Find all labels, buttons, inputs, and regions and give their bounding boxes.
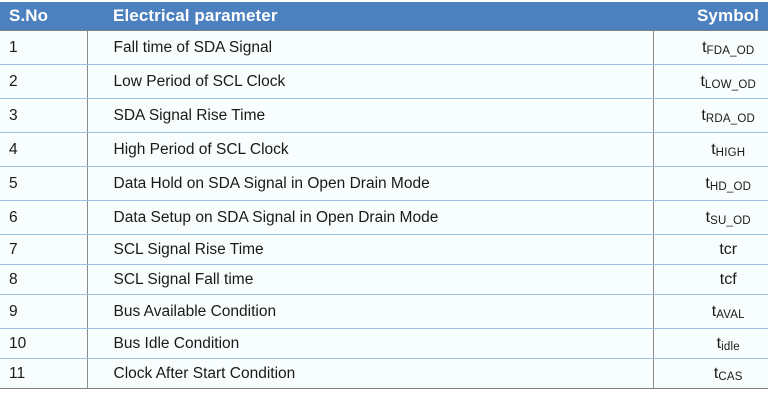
cell-symbol: tidle <box>653 329 768 359</box>
electrical-parameter-table: S.No Electrical parameter Symbol 1Fall t… <box>0 2 768 389</box>
cell-symbol: tCAS <box>653 359 768 389</box>
table-body: 1Fall time of SDA SignaltFDA_OD2Low Peri… <box>0 31 768 389</box>
symbol-text: tCAS <box>714 365 743 382</box>
symbol-text: tSU_OD <box>706 209 751 226</box>
symbol-subscript: HD_OD <box>710 181 751 193</box>
table-row: 7SCL Signal Rise Timetcr <box>0 235 768 265</box>
table-row: 9Bus Available ConditiontAVAL <box>0 295 768 329</box>
cell-sno: 8 <box>0 265 87 295</box>
symbol-text: tcr <box>719 241 737 258</box>
table-row: 4High Period of SCL ClocktHIGH <box>0 133 768 167</box>
cell-sno: 4 <box>0 133 87 167</box>
table-row: 1Fall time of SDA SignaltFDA_OD <box>0 31 768 65</box>
table-row: 3SDA Signal Rise TimetRDA_OD <box>0 99 768 133</box>
cell-parameter: Bus Available Condition <box>87 295 653 329</box>
cell-sno: 7 <box>0 235 87 265</box>
symbol-subscript: LOW_OD <box>705 79 756 91</box>
cell-parameter: Low Period of SCL Clock <box>87 65 653 99</box>
symbol-base: t <box>711 141 715 158</box>
symbol-subscript: RDA_OD <box>706 113 755 125</box>
symbol-subscript: FDA_OD <box>707 45 755 57</box>
cell-symbol: tcr <box>653 235 768 265</box>
cell-sno: 6 <box>0 201 87 235</box>
symbol-text: tHIGH <box>711 141 745 158</box>
cell-symbol: tcf <box>653 265 768 295</box>
cell-sno: 1 <box>0 31 87 65</box>
symbol-text: tHD_OD <box>705 175 751 192</box>
symbol-text: tLOW_OD <box>700 73 756 90</box>
cell-parameter: High Period of SCL Clock <box>87 133 653 167</box>
column-header-symbol: Symbol <box>653 2 768 31</box>
symbol-text: tAVAL <box>712 303 745 320</box>
table-row: 8SCL Signal Fall timetcf <box>0 265 768 295</box>
table-header: S.No Electrical parameter Symbol <box>0 2 768 31</box>
cell-parameter: SDA Signal Rise Time <box>87 99 653 133</box>
symbol-text: tidle <box>717 335 740 352</box>
cell-symbol: tAVAL <box>653 295 768 329</box>
symbol-text: tcf <box>720 271 737 288</box>
symbol-text: tFDA_OD <box>702 39 754 56</box>
symbol-base: t <box>702 39 706 56</box>
table-row: 10Bus Idle Conditiontidle <box>0 329 768 359</box>
cell-symbol: tFDA_OD <box>653 31 768 65</box>
symbol-subscript: CAS <box>718 371 742 383</box>
cell-parameter: Fall time of SDA Signal <box>87 31 653 65</box>
cell-sno: 9 <box>0 295 87 329</box>
cell-symbol: tRDA_OD <box>653 99 768 133</box>
symbol-subscript: SU_OD <box>710 215 751 227</box>
symbol-subscript: AVAL <box>716 309 745 321</box>
cell-symbol: tHD_OD <box>653 167 768 201</box>
cell-sno: 3 <box>0 99 87 133</box>
symbol-subscript: idle <box>721 341 740 353</box>
table-row: 2Low Period of SCL ClocktLOW_OD <box>0 65 768 99</box>
cell-symbol: tLOW_OD <box>653 65 768 99</box>
column-header-sno: S.No <box>0 2 87 31</box>
symbol-text: tRDA_OD <box>701 107 755 124</box>
cell-sno: 11 <box>0 359 87 389</box>
table-row: 6Data Setup on SDA Signal in Open Drain … <box>0 201 768 235</box>
symbol-base: tcr <box>719 241 737 258</box>
cell-parameter: Bus Idle Condition <box>87 329 653 359</box>
table-header-row: S.No Electrical parameter Symbol <box>0 2 768 31</box>
symbol-base: tcf <box>720 271 737 288</box>
cell-parameter: Data Hold on SDA Signal in Open Drain Mo… <box>87 167 653 201</box>
cell-symbol: tSU_OD <box>653 201 768 235</box>
cell-sno: 10 <box>0 329 87 359</box>
cell-parameter: SCL Signal Rise Time <box>87 235 653 265</box>
column-header-parameter: Electrical parameter <box>87 2 653 31</box>
cell-sno: 5 <box>0 167 87 201</box>
cell-parameter: Clock After Start Condition <box>87 359 653 389</box>
table-row: 11Clock After Start ConditiontCAS <box>0 359 768 389</box>
cell-parameter: Data Setup on SDA Signal in Open Drain M… <box>87 201 653 235</box>
cell-sno: 2 <box>0 65 87 99</box>
parameter-table-container: S.No Electrical parameter Symbol 1Fall t… <box>0 2 768 389</box>
cell-parameter: SCL Signal Fall time <box>87 265 653 295</box>
table-row: 5Data Hold on SDA Signal in Open Drain M… <box>0 167 768 201</box>
cell-symbol: tHIGH <box>653 133 768 167</box>
symbol-subscript: HIGH <box>716 147 746 159</box>
